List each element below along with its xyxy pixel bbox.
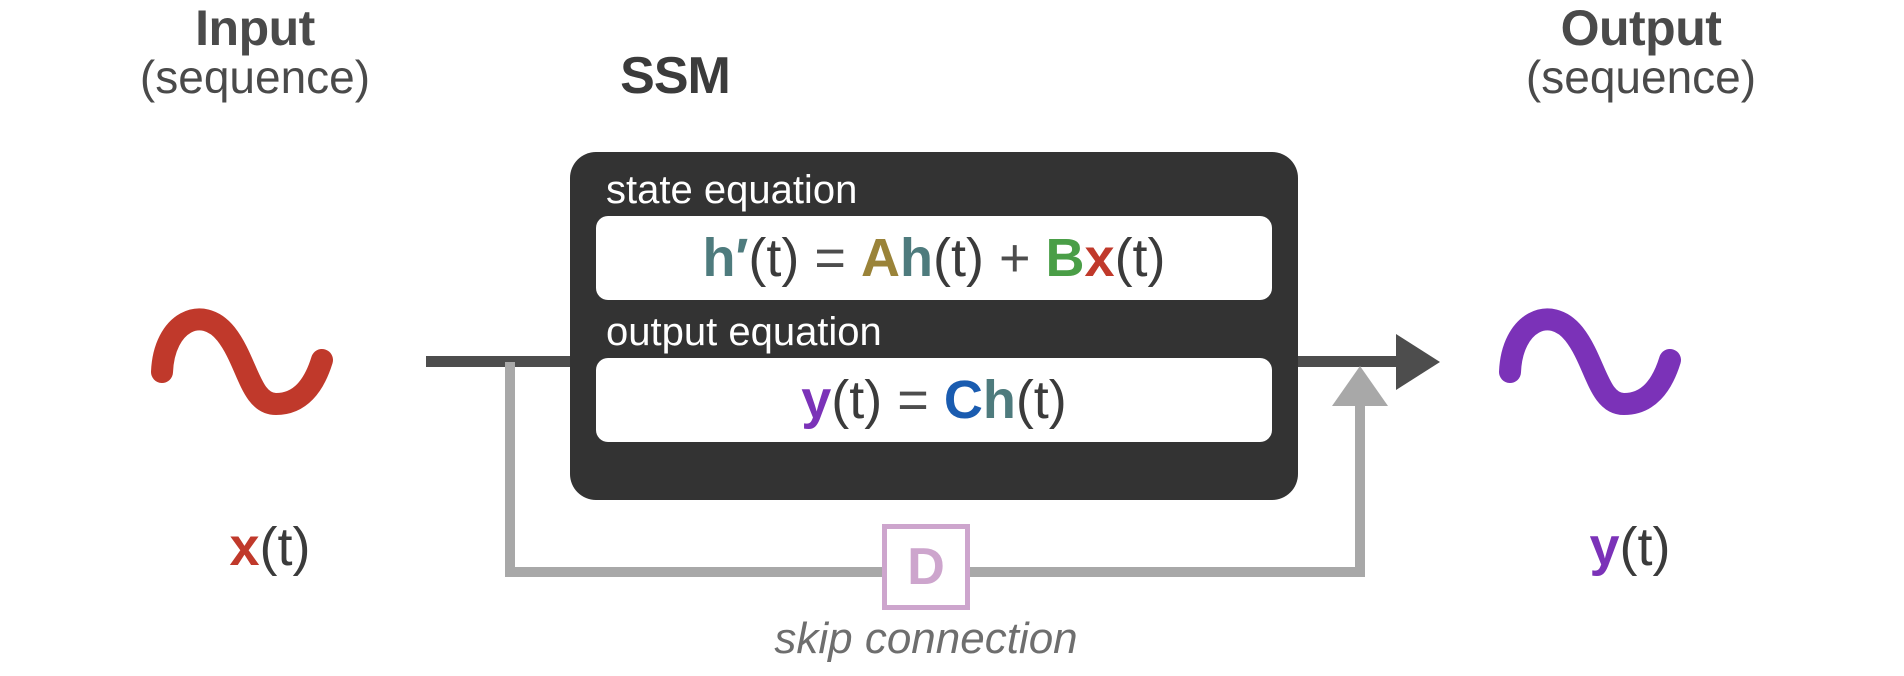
- input-signal-symbol: x: [229, 517, 259, 577]
- output-equation: y(t) = Ch(t): [801, 369, 1067, 431]
- output-equation-caption: output equation: [606, 310, 1272, 354]
- state-matrix-b: B: [1046, 228, 1085, 288]
- state-equation-caption: state equation: [606, 168, 1272, 212]
- input-signal-arg: (t): [260, 517, 311, 577]
- input-signal-label: x(t): [110, 520, 430, 574]
- state-term2-var: x: [1085, 228, 1115, 288]
- skip-d-box: D: [882, 524, 970, 610]
- state-term2-arg: (t): [1115, 228, 1166, 288]
- state-lhs-arg: (t): [748, 228, 799, 288]
- output-subtitle: (sequence): [1386, 54, 1896, 102]
- output-lhs-arg: (t): [831, 370, 882, 430]
- output-signal-symbol: y: [1589, 517, 1619, 577]
- state-lhs-prime: ′: [735, 228, 748, 288]
- input-heading: Input (sequence): [0, 2, 510, 102]
- output-arrow-head-icon: [1396, 334, 1440, 390]
- state-lhs-var: h: [702, 228, 735, 288]
- state-term1-var: h: [900, 228, 933, 288]
- skip-arrow-head-icon: [1332, 366, 1388, 406]
- output-heading: Output (sequence): [1386, 2, 1896, 102]
- output-equation-box: y(t) = Ch(t): [596, 358, 1272, 442]
- input-title: Input: [0, 2, 510, 54]
- output-term-var: h: [983, 370, 1016, 430]
- ssm-title: SSM: [560, 46, 790, 106]
- state-equation-box: h′(t) = Ah(t) + Bx(t): [596, 216, 1272, 300]
- skip-connection-caption: skip connection: [706, 614, 1146, 664]
- output-sine-wave-icon: [1498, 300, 1688, 425]
- input-sine-wave-icon: [150, 300, 340, 425]
- output-signal-arg: (t): [1620, 517, 1671, 577]
- output-matrix-c: C: [944, 370, 983, 430]
- state-equals: =: [814, 228, 846, 288]
- skip-wire-right-vertical: [1355, 404, 1365, 577]
- state-matrix-a: A: [861, 228, 900, 288]
- skip-wire-left-vertical: [505, 362, 515, 577]
- input-subtitle: (sequence): [0, 54, 510, 102]
- input-wire: [426, 356, 576, 367]
- output-lhs-var: y: [801, 370, 831, 430]
- ssm-panel: state equation h′(t) = Ah(t) + Bx(t) out…: [570, 152, 1298, 500]
- output-term-arg: (t): [1016, 370, 1067, 430]
- output-equals: =: [897, 370, 929, 430]
- output-title: Output: [1386, 2, 1896, 54]
- output-signal-label: y(t): [1470, 520, 1790, 574]
- diagram-canvas: Input (sequence) Output (sequence) SSM x…: [0, 0, 1904, 676]
- skip-d-label: D: [907, 541, 945, 593]
- state-equation: h′(t) = Ah(t) + Bx(t): [702, 227, 1165, 289]
- state-plus: +: [999, 228, 1031, 288]
- state-term1-arg: (t): [933, 228, 984, 288]
